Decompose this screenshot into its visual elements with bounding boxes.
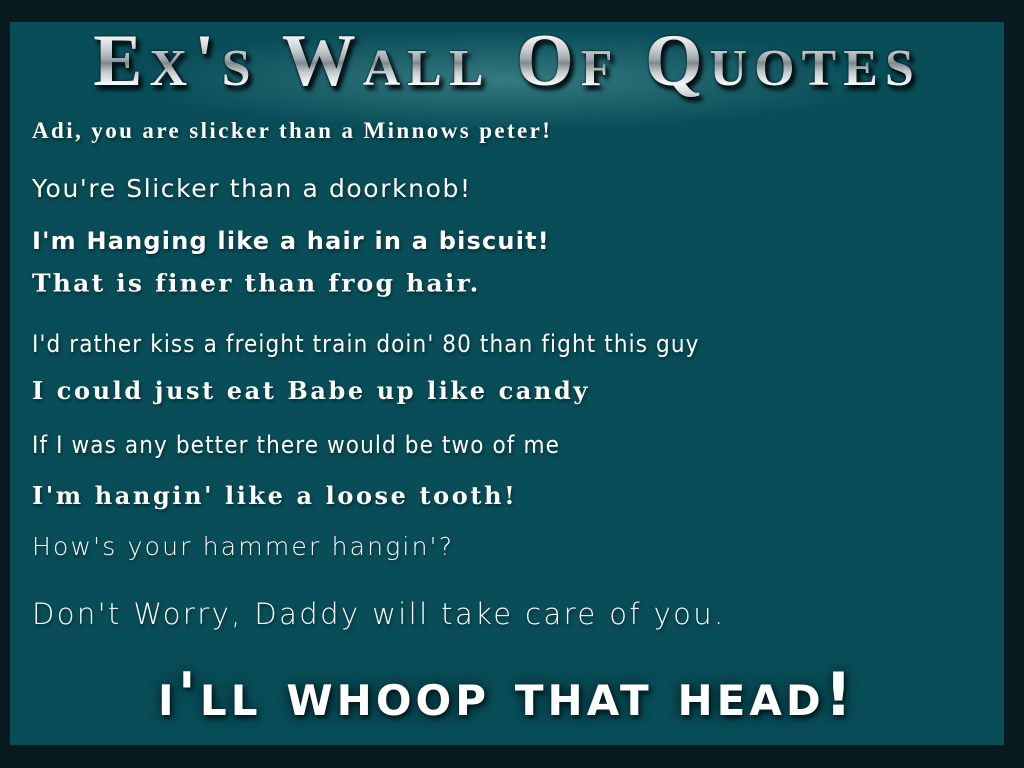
quote-line: I'm Hanging like a hair in a biscuit!: [32, 227, 962, 255]
quote-line: I'm hangin' like a loose tooth!: [32, 481, 962, 510]
quote-line: I'd rather kiss a freight train doin' 80…: [32, 330, 962, 358]
quote-line: You're Slicker than a doorknob!: [32, 174, 962, 203]
quote-line: If I was any better there would be two o…: [32, 431, 962, 459]
quote-list: Adi, you are slicker than a Minnows pete…: [32, 118, 962, 631]
page-title: Ex's Wall Of Quotes: [10, 24, 1004, 99]
quote-line: That is finer than frog hair.: [32, 270, 962, 298]
footer-slogan: I'LL WHOOP THAT HEAD!: [10, 660, 1004, 730]
quote-line: I could just eat Babe up like candy: [32, 376, 962, 405]
quote-line: Don't Worry, Daddy will take care of you…: [32, 597, 962, 631]
quote-line: How's your hammer hangin'?: [32, 532, 962, 561]
quote-line: Adi, you are slicker than a Minnows pete…: [32, 118, 962, 144]
quote-poster: Ex's Wall Of Quotes Adi, you are slicker…: [0, 0, 1024, 768]
